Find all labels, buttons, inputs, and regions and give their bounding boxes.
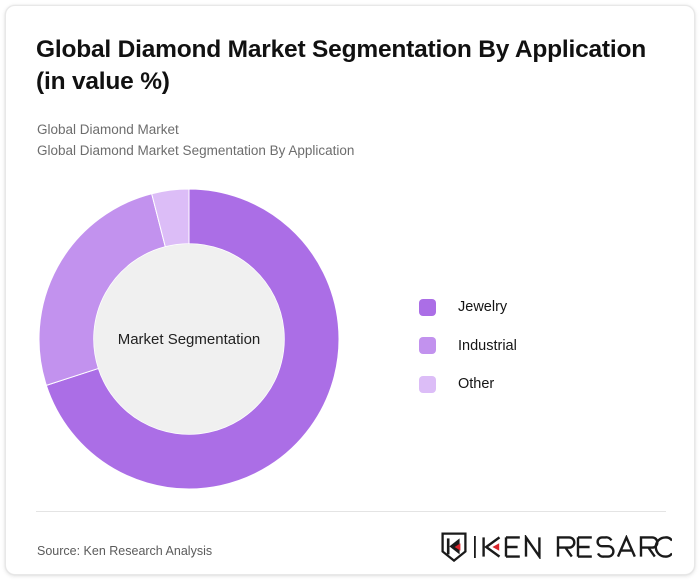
donut-chart-svg xyxy=(34,184,344,494)
legend-item-jewelry[interactable]: Jewelry xyxy=(419,288,649,327)
chart-legend: Jewelry Industrial Other xyxy=(419,288,649,404)
donut-chart: Market Segmentation xyxy=(34,184,344,494)
subtitle-block: Global Diamond Market Global Diamond Mar… xyxy=(37,119,657,161)
brand-wordmark xyxy=(474,535,672,559)
legend-swatch-icon xyxy=(419,299,436,316)
legend-swatch-icon xyxy=(419,337,436,354)
subtitle-market: Global Diamond Market xyxy=(37,119,657,140)
page-title: Global Diamond Market Segmentation By Ap… xyxy=(36,34,676,99)
legend-item-industrial[interactable]: Industrial xyxy=(419,327,649,366)
source-note: Source: Ken Research Analysis xyxy=(37,544,212,558)
brand-logo xyxy=(441,532,672,562)
legend-item-label: Jewelry xyxy=(458,299,507,315)
subtitle-segmentation: Global Diamond Market Segmentation By Ap… xyxy=(37,140,657,161)
chart-card: Global Diamond Market Segmentation By Ap… xyxy=(5,5,695,575)
footer-divider xyxy=(36,511,666,512)
legend-item-label: Other xyxy=(458,376,494,392)
legend-item-label: Industrial xyxy=(458,338,517,354)
legend-swatch-icon xyxy=(419,376,436,393)
ken-research-shield-logo-icon xyxy=(441,532,467,562)
donut-hole xyxy=(94,244,284,434)
legend-item-other[interactable]: Other xyxy=(419,365,649,404)
